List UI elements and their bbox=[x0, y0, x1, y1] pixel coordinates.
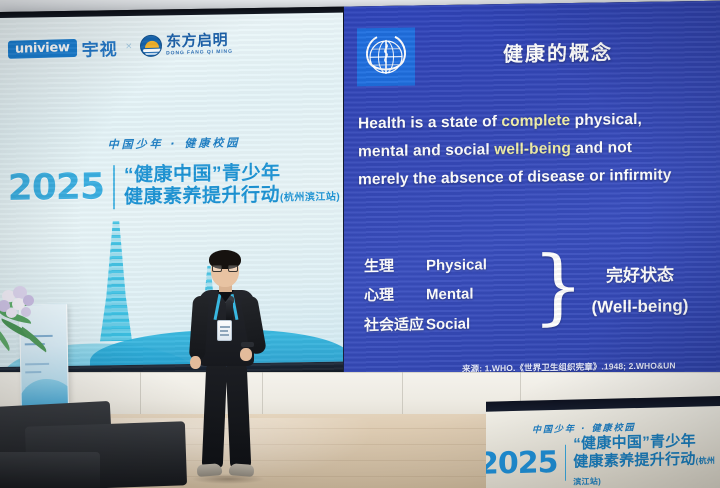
presenter-shoe-left bbox=[197, 463, 223, 477]
definition-line2-part-b: and not bbox=[571, 139, 632, 157]
slide-title: 健康的概念 bbox=[344, 35, 720, 70]
banner-year: 2025 bbox=[486, 448, 558, 480]
dimension-en-mental: Mental bbox=[426, 286, 474, 304]
definition-line2-part-a: mental and social bbox=[358, 141, 494, 160]
presenter bbox=[185, 250, 271, 488]
event-title-line2-sub: (杭州滨江站) bbox=[280, 192, 340, 204]
definition-highlight-complete: complete bbox=[501, 112, 570, 130]
banner-tagline: 中国少年 · 健康校园 bbox=[532, 420, 636, 436]
conference-presentation-photo: uniview 宇视 × 东方启明 DONG FANG QI MING 中国少年… bbox=[0, 0, 720, 488]
title-divider bbox=[113, 166, 115, 210]
pagoda-tower-icon bbox=[96, 221, 136, 342]
dimension-en-social: Social bbox=[426, 315, 470, 333]
banner-title-line2: 健康素养提升行动(杭州滨江站) bbox=[573, 450, 720, 488]
definition-highlight-wellbeing: well-being bbox=[494, 140, 571, 158]
dimension-en-physical: Physical bbox=[426, 256, 487, 274]
partner-english-name: DONG FANG QI MING bbox=[166, 50, 233, 57]
banner-title-line2-main: 健康素养提升行动 bbox=[573, 451, 695, 471]
outcome-chinese: 完好状态 bbox=[560, 259, 720, 293]
dongfangqiming-text: 东方启明 DONG FANG QI MING bbox=[166, 33, 233, 57]
health-dimension-item: 生理Physical bbox=[364, 249, 549, 281]
sunrise-wave-icon bbox=[140, 35, 162, 58]
definition-line1-part-a: Health is a state of bbox=[358, 113, 501, 132]
dimension-cn-physical: 生理 bbox=[364, 251, 426, 281]
presentation-slide: 健康的概念 Health is a state of complete phys… bbox=[344, 1, 720, 391]
eyeglasses-icon bbox=[212, 265, 238, 272]
health-outcome-block: 完好状态 (Well-being) bbox=[560, 259, 720, 324]
microphone-icon bbox=[226, 300, 233, 322]
presenter-hand-left bbox=[190, 356, 201, 369]
dimension-cn-mental: 心理 bbox=[364, 281, 426, 311]
event-title-line2: 健康素养提升行动(杭州滨江站) bbox=[124, 184, 340, 210]
presenter-shoe-right bbox=[229, 463, 255, 477]
event-title-block: 2025 “健康中国”青少年 健康素养提升行动(杭州滨江站) bbox=[0, 162, 348, 212]
sponsor-logo-bar: uniview 宇视 × 东方启明 DONG FANG QI MING bbox=[8, 27, 338, 64]
name-badge bbox=[217, 320, 232, 341]
led-video-wall: uniview 宇视 × 东方启明 DONG FANG QI MING 中国少年… bbox=[0, 1, 720, 394]
uniview-chinese-name: 宇视 bbox=[81, 34, 117, 60]
health-dimensions-list: 生理Physical 心理Mental 社会适应Social bbox=[364, 249, 549, 340]
who-health-definition: Health is a state of complete physical, … bbox=[358, 105, 720, 195]
health-dimension-item: 心理Mental bbox=[364, 279, 549, 311]
banner-title-lines: “健康中国”青少年 健康素养提升行动(杭州滨江站) bbox=[573, 432, 720, 488]
definition-line1-part-b: physical, bbox=[570, 111, 642, 129]
bottom-right-event-banner: 中国少年 · 健康校园 2025 “健康中国”青少年 健康素养提升行动(杭州滨江… bbox=[486, 406, 720, 488]
outcome-english: (Well-being) bbox=[560, 290, 720, 324]
partner-chinese-name: 东方启明 bbox=[166, 33, 233, 50]
banner-divider bbox=[565, 445, 567, 481]
banner-title-block: 2025 “健康中国”青少年 健康素养提升行动(杭州滨江站) bbox=[486, 432, 720, 488]
audience-chair-back bbox=[0, 452, 100, 488]
presenter-hand-right bbox=[240, 348, 252, 361]
event-year: 2025 bbox=[8, 170, 104, 208]
sponsor-separator: × bbox=[126, 40, 133, 52]
event-title-lines: “健康中国”青少年 健康素养提升行动(杭州滨江站) bbox=[124, 162, 340, 210]
flower-arrangement bbox=[0, 282, 64, 362]
health-dimension-item: 社会适应Social bbox=[364, 308, 549, 340]
presenter-legs bbox=[202, 364, 252, 468]
wristwatch-icon bbox=[241, 342, 254, 347]
event-title-line2-main: 健康素养提升行动 bbox=[124, 185, 280, 208]
dongfangqiming-logo: 东方启明 DONG FANG QI MING bbox=[140, 33, 233, 58]
event-tagline: 中国少年 · 健康校园 bbox=[0, 133, 348, 154]
definition-line-3: merely the absence of disease or infirmi… bbox=[358, 161, 720, 195]
uniview-wordmark: uniview bbox=[8, 39, 77, 59]
curly-brace-icon: } bbox=[532, 249, 558, 341]
dimension-cn-social: 社会适应 bbox=[364, 310, 426, 340]
uniview-logo: uniview 宇视 bbox=[8, 34, 118, 62]
